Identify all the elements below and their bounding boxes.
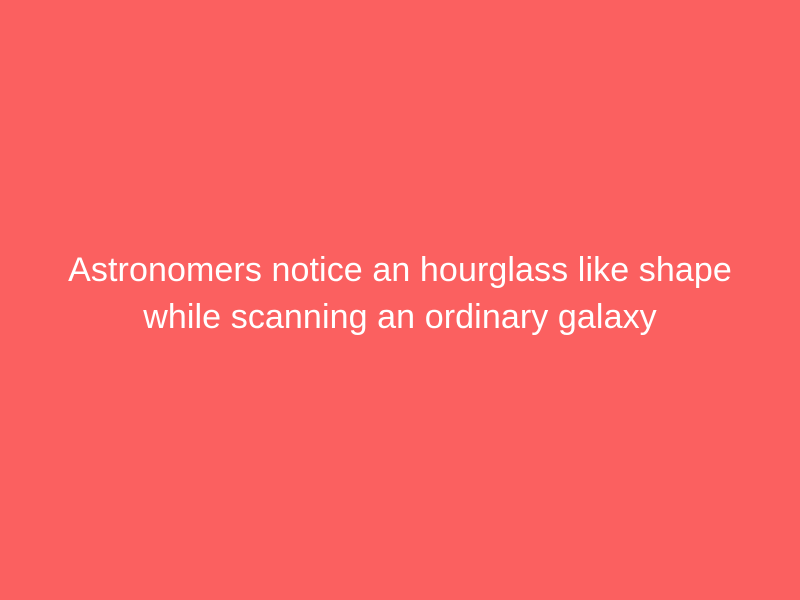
headline-block: Astronomers notice an hourglass like sha… <box>0 247 800 341</box>
headline-card: Astronomers notice an hourglass like sha… <box>0 0 800 600</box>
headline-title: Astronomers notice an hourglass like sha… <box>40 247 760 341</box>
